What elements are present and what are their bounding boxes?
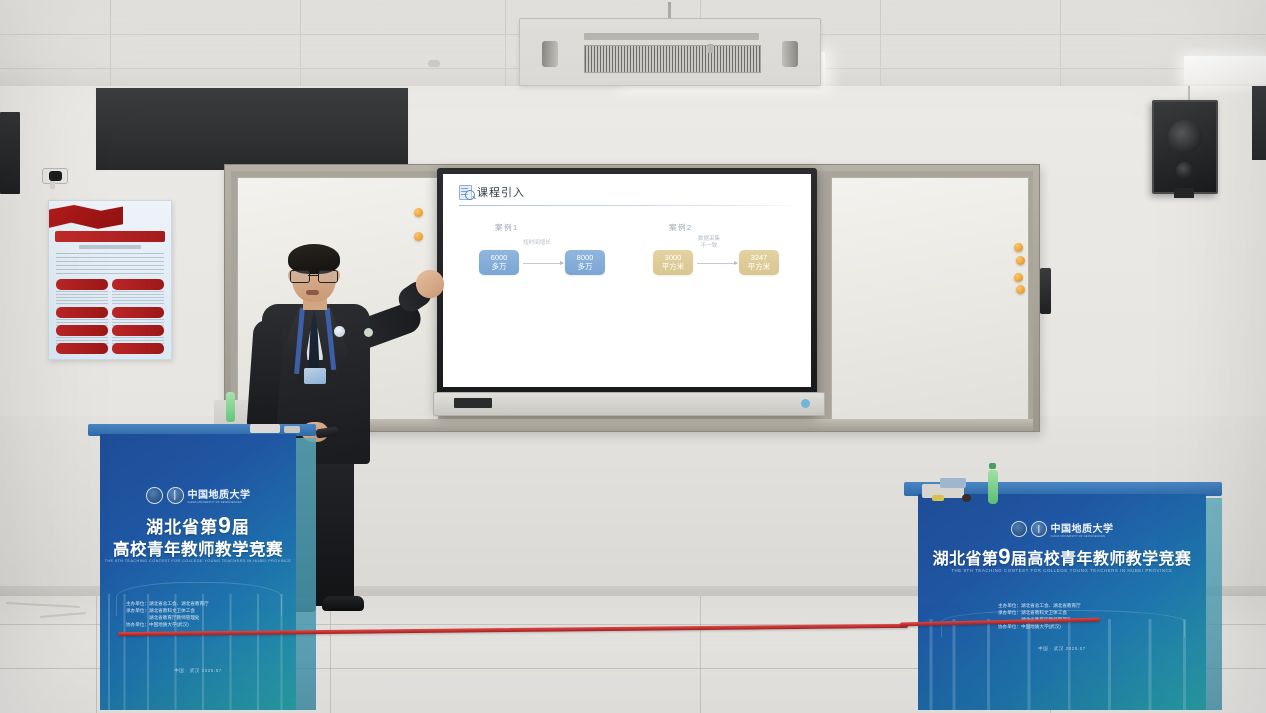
speaker-tweeter-icon [1176,162,1193,179]
marker-holder[interactable] [1040,268,1051,314]
university-name: 中国地质大学 [188,486,251,501]
university-name-en: CHINA UNIVERSITY OF GEOSCIENCES [1051,535,1105,538]
flag-icon [49,205,123,231]
right-to-box: 3247 平方米 [739,250,779,275]
glasses-icon [290,270,338,282]
presenter-lapel-pin-icon [334,326,345,337]
poster-intro-text [56,253,164,275]
presentation-slide: 课程引入 案例1 案例2 短时间增长 6000 多万 8000 多万 数据采集 … [443,174,811,387]
poster-subtitle-bar [79,245,141,249]
university-seal-icon [1011,521,1027,537]
podium-right-item [962,494,971,502]
presenter-mouth [306,290,319,295]
podium-left-title-line2: 高校青年教师教学竞赛 [100,536,296,560]
surveillance-camera [38,168,66,188]
podium-left-logo-row: 中国地质大学 CHINA UNIVERSITY OF GEOSCIENCES [100,486,296,504]
right-from-box: 3000 平方米 [653,250,693,275]
display-port-panel[interactable] [454,398,492,408]
speaker-bracket [1174,188,1194,198]
case-label-right: 案例2 [669,222,693,233]
ac-intake-slot [584,33,759,40]
whiteboard-panel-right[interactable] [831,177,1029,421]
podium-left-title-line1: 湖北省第9届 [100,512,296,539]
organizer-line: 协办单位：中国地质大学(武汉) [998,623,1081,630]
ac-grille [584,45,761,73]
presenter-shoe-right [322,596,364,611]
podium-right-side [1206,498,1222,710]
podium-right: 中国地质大学 CHINA UNIVERSITY OF GEOSCIENCES 湖… [904,482,1222,710]
podium-left-banner: 中国地质大学 CHINA UNIVERSITY OF GEOSCIENCES 湖… [100,434,296,710]
organizer-line: 主办单位：湖北省总工会、湖北省教育厅 [126,600,209,607]
display-power-led [801,399,810,408]
wall-poster [48,200,172,360]
podium-right-banner: 中国地质大学 CHINA UNIVERSITY OF GEOSCIENCES 湖… [918,494,1206,710]
podium-left-organizers: 主办单位：湖北省总工会、湖北省教育厅 承办单位：湖北省教科文卫体工会 湖北省教育… [126,600,209,628]
podium-left-side [296,438,316,710]
podium-left-date: 中国 · 武汉 2025.07 [100,668,296,674]
podium-right-title: 湖北省第9届高校青年教师教学竞赛 [918,544,1206,570]
camera-mount-arm [50,181,55,189]
speaker-cone-icon [1168,120,1202,154]
smoke-detector-icon [428,60,440,67]
organizer-line: 协办单位：中国地质大学(武汉) [126,621,209,628]
left-arrow-icon [523,263,563,264]
podium-right-logo-row: 中国地质大学 CHINA UNIVERSITY OF GEOSCIENCES [918,520,1206,538]
magnet-icon[interactable] [1016,285,1025,294]
left-from-box: 6000 多万 [479,250,519,275]
slide-header: 课程引入 [459,184,525,200]
magnet-icon[interactable] [1016,256,1025,265]
wall-speaker [1152,100,1218,194]
wall-cabinet-right [1252,86,1266,160]
podium-right-subtitle-en: THE 9TH TEACHING CONTEST FOR COLLEGE YOU… [918,568,1206,573]
camera-body [42,168,68,184]
podium-right-organizers: 主办单位：湖北省总工会、湖北省教育厅 承办单位：湖北省教科文卫体工会 湖北省教育… [998,602,1081,630]
podium-right-item [940,478,966,488]
sprinkler-icon [708,44,713,53]
wall-cabinet-left [94,86,410,172]
display-screen[interactable]: 课程引入 案例1 案例2 短时间增长 6000 多万 8000 多万 数据采集 … [443,174,811,387]
organizer-line: 承办单位：湖北省教科文卫体工会 [998,609,1081,616]
display-control-bar[interactable] [433,392,825,416]
podium-left-item [284,426,300,433]
ac-vent-right [782,41,798,67]
presenter-pocket-pin-icon [364,328,373,337]
podium-left: 中国地质大学 CHINA UNIVERSITY OF GEOSCIENCES 湖… [88,424,316,710]
university-emblem-icon [1031,521,1047,537]
water-bottle [226,392,235,422]
organizer-line: 承办单位：湖北省教科文卫体工会 [126,607,209,614]
university-name: 中国地质大学 [1051,520,1114,535]
podium-right-date: 中国 · 武汉 2025.07 [918,646,1206,652]
smart-display[interactable]: 课程引入 案例1 案例2 短时间增长 6000 多万 8000 多万 数据采集 … [437,168,817,413]
poster-title-bar [55,231,165,242]
document-magnifier-icon [459,185,472,200]
university-name-en: CHINA UNIVERSITY OF GEOSCIENCES [188,501,242,504]
bottle-cap [989,463,996,469]
classroom-scene: 课程引入 案例1 案例2 短时间增长 6000 多万 8000 多万 数据采集 … [0,0,1266,713]
right-arrow-label: 数据采集 不一致 [681,236,737,251]
left-arrow-label: 短时间增长 [509,240,565,247]
podium-left-item [250,424,280,433]
camera-lens-icon [49,171,62,181]
right-arrow-icon [697,263,737,264]
organizer-line: 湖北省教育厅教师管理处 [126,614,209,621]
magnet-icon[interactable] [1014,243,1023,252]
organizer-line: 主办单位：湖北省总工会、湖北省教育厅 [998,602,1081,609]
university-seal-icon [146,487,163,504]
slide-title: 课程引入 [477,184,525,200]
ceiling-light-panel-right [1184,56,1266,84]
podium-right-item [932,495,944,501]
magnet-icon[interactable] [414,232,423,241]
podium-left-subtitle-en: THE 9TH TEACHING CONTEST FOR COLLEGE YOU… [100,558,296,563]
water-bottle [988,470,998,504]
ceiling-ac-unit [519,18,821,86]
ac-vent-left [542,41,558,67]
presenter-badge [304,368,326,384]
university-emblem-icon [167,487,184,504]
left-to-box: 8000 多万 [565,250,605,275]
wall-panel-left [0,112,20,194]
case-label-left: 案例1 [495,222,519,233]
magnet-icon[interactable] [1014,273,1023,282]
slide-title-rule [459,205,805,206]
magnet-icon[interactable] [414,208,423,217]
